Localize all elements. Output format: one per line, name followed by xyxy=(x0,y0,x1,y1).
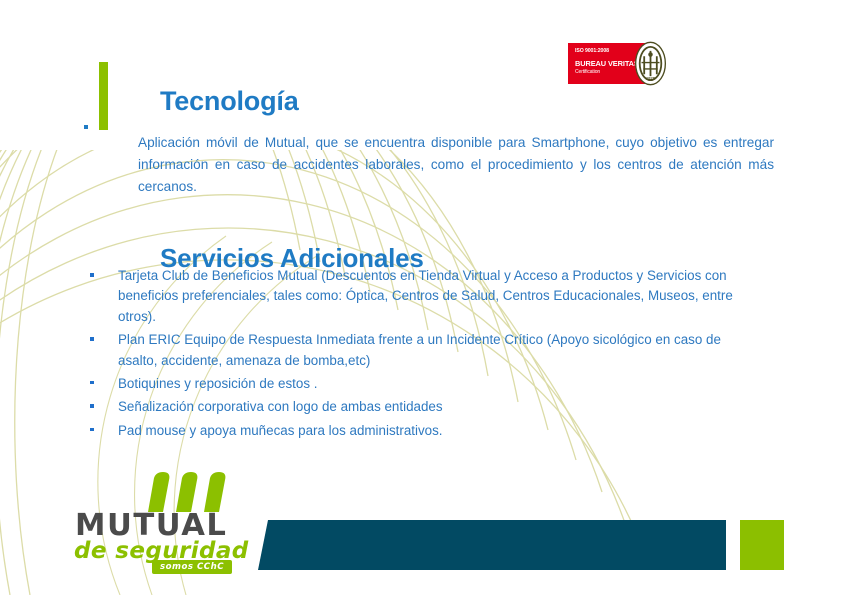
list-item: Señalización corporativa con logo de amb… xyxy=(90,397,750,417)
tecnologia-bullet-row: Aplicación móvil de Mutual, que se encue… xyxy=(84,118,774,211)
certification-label: Certification xyxy=(575,70,600,75)
bureau-veritas-iso-logo: ISO 9001:2008 BUREAU VERITAS Certificati… xyxy=(568,41,680,86)
bullet-marker-icon xyxy=(84,125,88,129)
tecnologia-bullet-text: Aplicación móvil de Mutual, que se encue… xyxy=(138,132,774,198)
list-item-text: Señalización corporativa con logo de amb… xyxy=(118,399,443,414)
mutual-de-seguridad-logo: MUTUAL de seguridad somos CChC xyxy=(72,472,272,582)
bullet-marker-icon xyxy=(90,337,94,341)
slide-canvas: ISO 9001:2008 BUREAU VERITAS Certificati… xyxy=(0,0,842,595)
list-item-text: Plan ERIC Equipo de Respuesta Inmediata … xyxy=(118,332,721,367)
servicios-adicionales-list: Tarjeta Club de Beneficios Mutual (Descu… xyxy=(90,266,750,444)
list-item-text: Botiquines y reposición de estos . xyxy=(118,376,318,391)
bullet-marker-icon xyxy=(90,273,94,277)
list-item: Botiquines y reposición de estos . xyxy=(90,374,750,394)
list-item-text: Pad mouse y apoya muñecas para los admin… xyxy=(118,423,443,438)
bullet-marker-icon xyxy=(90,381,94,385)
bullet-marker-icon xyxy=(90,404,94,408)
footer-green-square xyxy=(740,520,784,570)
iso-standard-label: ISO 9001:2008 xyxy=(575,49,609,54)
bullet-marker-icon xyxy=(90,428,94,432)
list-item: Plan ERIC Equipo de Respuesta Inmediata … xyxy=(90,330,750,371)
list-item-text: Tarjeta Club de Beneficios Mutual (Descu… xyxy=(118,268,733,324)
somos-cchc-badge: somos CChC xyxy=(152,560,232,574)
bureau-veritas-seal-icon: 1828 xyxy=(628,41,673,86)
svg-text:1828: 1828 xyxy=(646,76,656,81)
list-item: Tarjeta Club de Beneficios Mutual (Descu… xyxy=(90,266,750,327)
footer-teal-bar xyxy=(258,520,726,570)
page-title-tecnologia: Tecnología xyxy=(160,86,299,117)
list-item: Pad mouse y apoya muñecas para los admin… xyxy=(90,421,750,441)
